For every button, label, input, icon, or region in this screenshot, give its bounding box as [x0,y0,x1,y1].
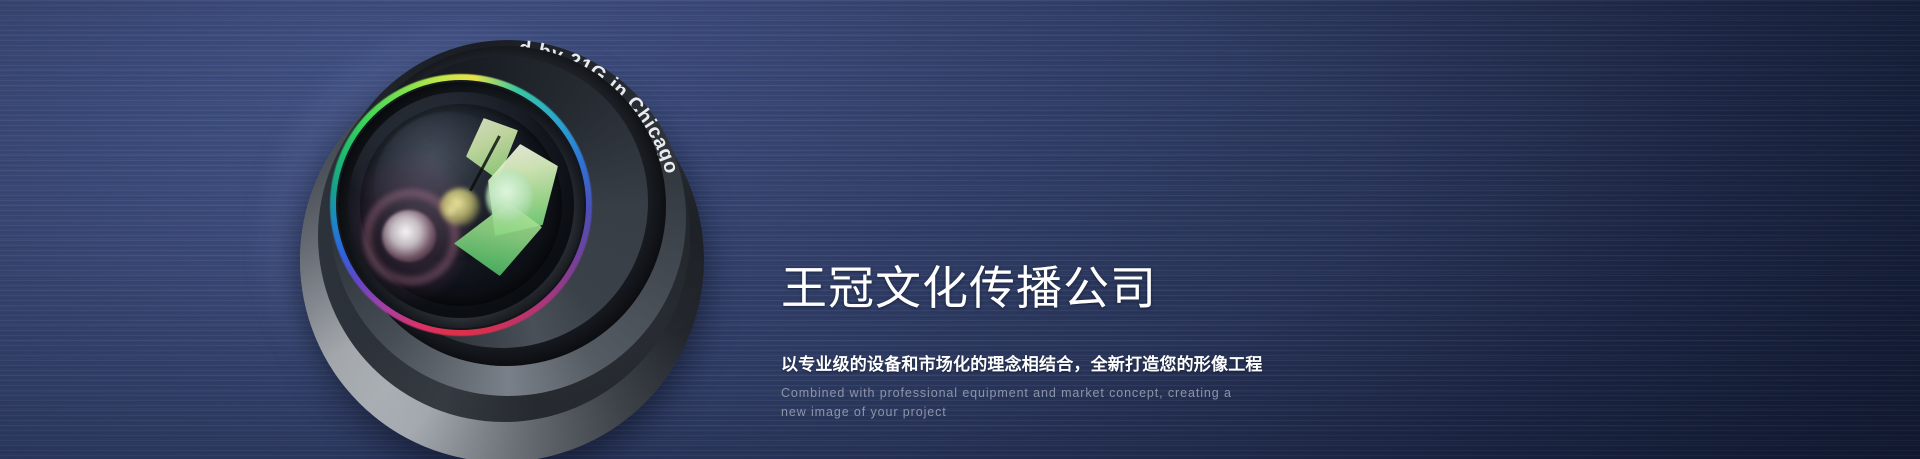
banner-copy: 王冠文化传播公司 以专业级的设备和市场化的理念相结合，全新打造您的形像工程 Co… [781,262,1601,422]
subtitle-chinese: 以专业级的设备和市场化的理念相结合，全新打造您的形像工程 [781,354,1601,377]
camera-lens-icon: d by 21G in Chicago [0,0,760,459]
lens-flare-highlight [382,210,436,262]
page-title: 王冠文化传播公司 [781,262,1601,316]
hero-banner: d by 21G in Chicago 王冠文化传播公司 以专业级的设备和市 [0,0,1920,459]
lens-glass-element [348,92,574,318]
subtitle-english: Combined with professional equipment and… [781,384,1261,422]
